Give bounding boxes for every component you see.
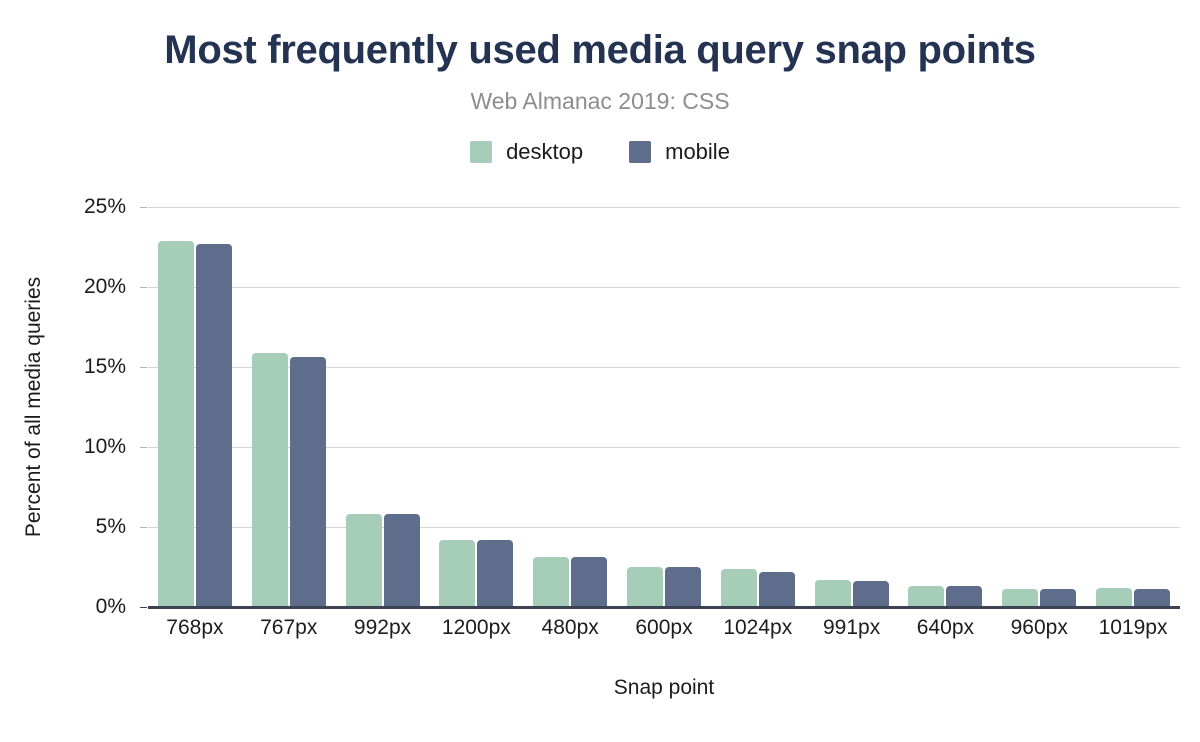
y-axis-tick-mark [140,527,147,528]
y-axis-tick-label: 20% [84,275,126,299]
bar-mobile-1200px[interactable] [477,540,513,607]
y-axis-tick-mark [140,607,147,608]
x-axis-line [148,606,1180,609]
chart-container: Most frequently used media query snap po… [0,0,1200,742]
bar-group-960px [992,207,1086,607]
bar-mobile-768px[interactable] [196,244,232,607]
bar-group-768px [148,207,242,607]
bar-group-1019px [1086,207,1180,607]
bar-group-600px [617,207,711,607]
bar-desktop-1019px[interactable] [1096,588,1132,607]
plot-area: 0%5%10%15%20%25% [148,207,1180,607]
y-axis-tick-label: 25% [84,195,126,219]
y-axis-tick-label: 10% [84,435,126,459]
legend-item-desktop[interactable]: desktop [470,139,583,165]
bar-mobile-480px[interactable] [571,557,607,607]
y-axis-tick-label: 0% [96,595,126,619]
bar-desktop-992px[interactable] [346,514,382,607]
bar-mobile-1019px[interactable] [1134,589,1170,607]
x-axis-tick-label-991px: 991px [805,616,899,640]
x-axis-title: Snap point [148,676,1180,700]
y-axis-tick-label: 15% [84,355,126,379]
bar-mobile-991px[interactable] [853,581,889,607]
bar-group-767px [242,207,336,607]
bar-mobile-960px[interactable] [1040,589,1076,607]
legend-item-mobile[interactable]: mobile [629,139,730,165]
chart-legend: desktopmobile [0,139,1200,165]
y-axis-tick-label: 5% [96,515,126,539]
x-axis-tick-label-1024px: 1024px [711,616,805,640]
y-axis-title: Percent of all media queries [22,277,46,537]
bar-group-992px [336,207,430,607]
x-axis-tick-labels: 768px767px992px1200px480px600px1024px991… [148,616,1180,640]
bar-desktop-480px[interactable] [533,557,569,607]
bar-desktop-768px[interactable] [158,241,194,607]
x-axis-tick-label-767px: 767px [242,616,336,640]
x-axis-tick-label-600px: 600px [617,616,711,640]
bar-group-991px [805,207,899,607]
x-axis-tick-label-480px: 480px [523,616,617,640]
bar-desktop-1200px[interactable] [439,540,475,607]
y-axis-tick-mark [140,287,147,288]
bar-group-1200px [429,207,523,607]
bar-group-640px [899,207,993,607]
x-axis-tick-label-768px: 768px [148,616,242,640]
bar-mobile-992px[interactable] [384,514,420,607]
bar-mobile-1024px[interactable] [759,572,795,607]
bar-group-1024px [711,207,805,607]
bar-desktop-1024px[interactable] [721,569,757,607]
y-axis-tick-mark [140,447,147,448]
bar-desktop-767px[interactable] [252,353,288,607]
bar-groups [148,207,1180,607]
legend-swatch-desktop [470,141,492,163]
y-axis-tick-mark [140,367,147,368]
chart-subtitle: Web Almanac 2019: CSS [0,88,1200,115]
legend-swatch-mobile [629,141,651,163]
x-axis-tick-label-640px: 640px [899,616,993,640]
bar-desktop-960px[interactable] [1002,589,1038,607]
y-axis-tick-mark [140,207,147,208]
bar-mobile-640px[interactable] [946,586,982,607]
bar-mobile-600px[interactable] [665,567,701,607]
legend-label-mobile: mobile [665,139,730,165]
x-axis-tick-label-1200px: 1200px [429,616,523,640]
x-axis-tick-label-992px: 992px [336,616,430,640]
bar-desktop-640px[interactable] [908,586,944,607]
x-axis-tick-label-960px: 960px [992,616,1086,640]
chart-title: Most frequently used media query snap po… [0,28,1200,73]
legend-label-desktop: desktop [506,139,583,165]
x-axis-tick-label-1019px: 1019px [1086,616,1180,640]
bar-desktop-600px[interactable] [627,567,663,607]
bar-group-480px [523,207,617,607]
bar-desktop-991px[interactable] [815,580,851,607]
bar-mobile-767px[interactable] [290,357,326,607]
